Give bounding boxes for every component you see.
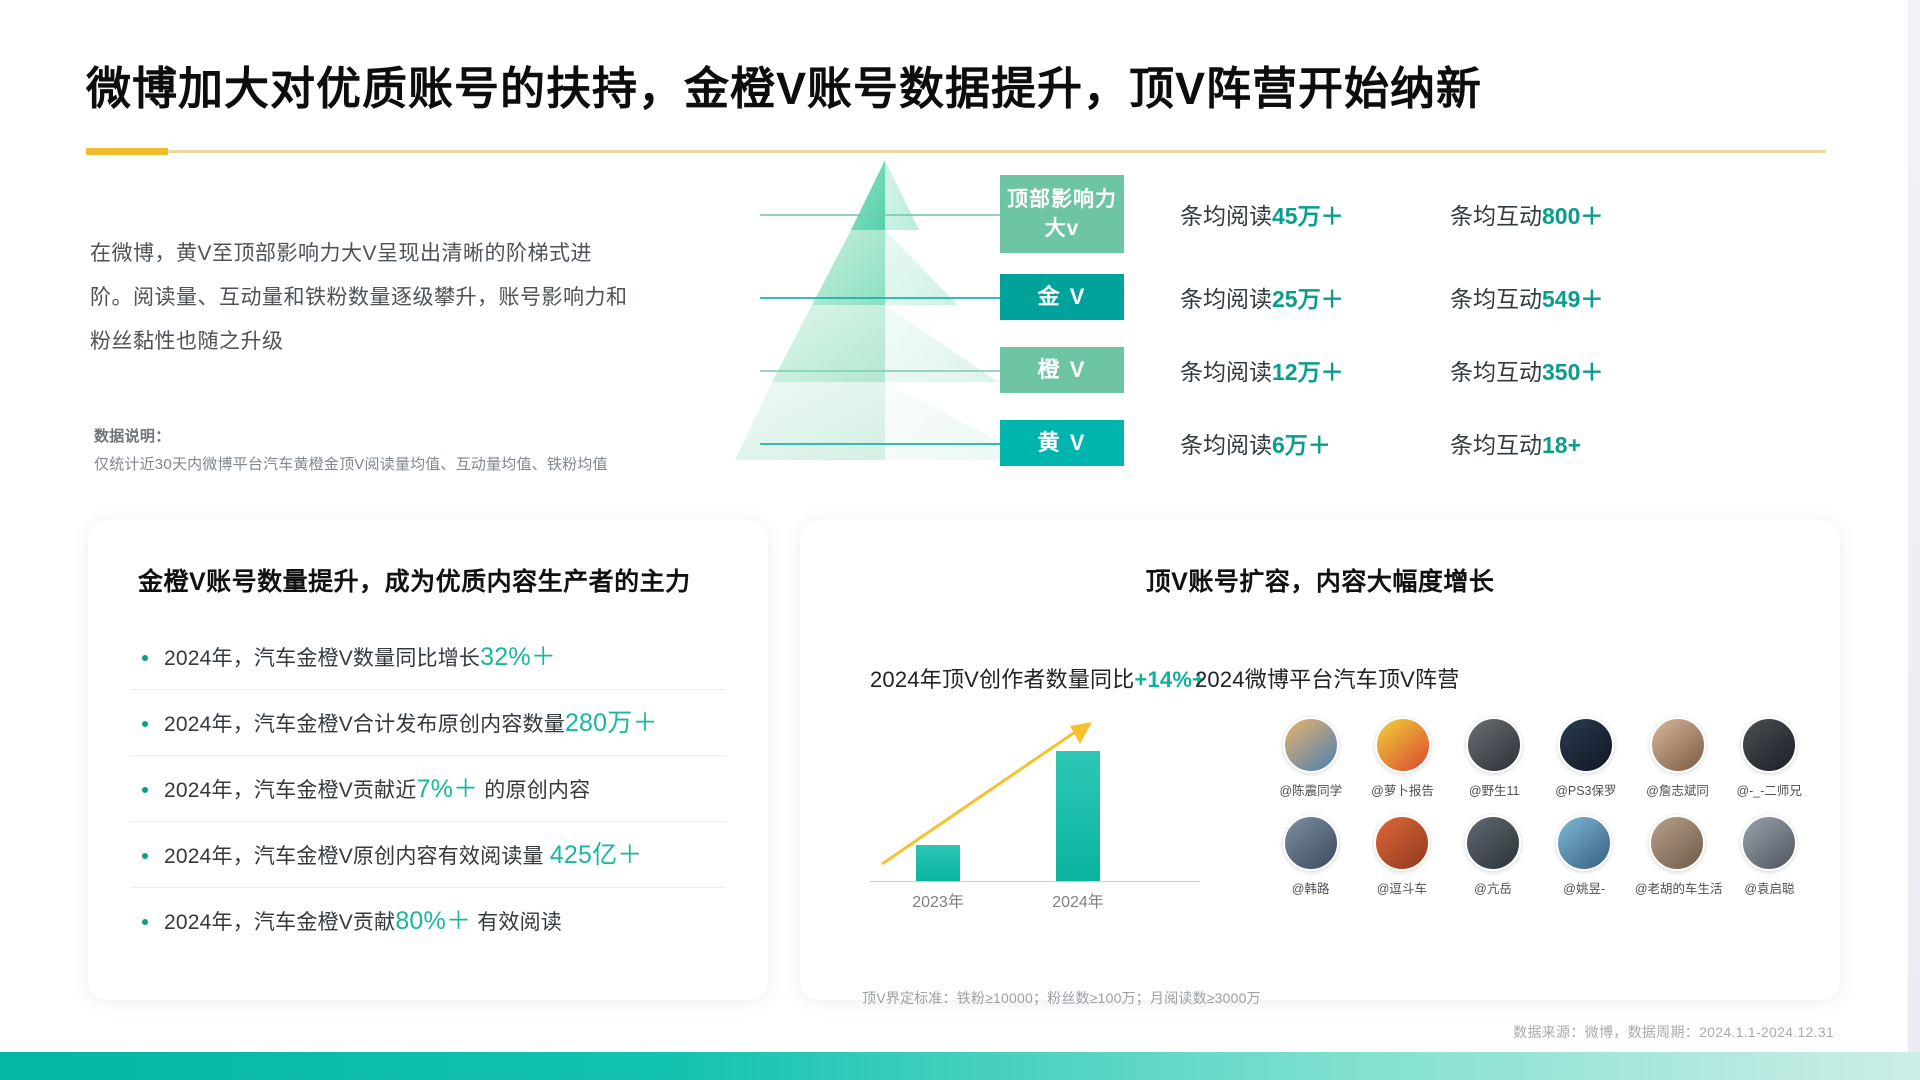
- tier-connector-line: [760, 443, 1015, 445]
- avatar-name: @PS3保罗: [1545, 780, 1627, 799]
- slide-root: 微博加大对优质账号的扶持，金橙V账号数据提升，顶V阵营开始纳新 在微博，黄V至顶…: [0, 0, 1920, 1080]
- tier-metric-read: 条均阅读6万＋: [1180, 426, 1331, 460]
- tier-connector-line: [760, 370, 1010, 372]
- avatar: [1741, 717, 1797, 773]
- avatar: [1374, 815, 1430, 871]
- avatar-cell[interactable]: @-_-二师兄: [1728, 717, 1810, 799]
- tier-badge: 橙 V: [1000, 347, 1124, 393]
- list-item: 2024年，汽车金橙V数量同比增长32%＋: [130, 624, 726, 690]
- data-note-body: 仅统计近30天内微博平台汽车黄橙金顶V阅读量均值、互动量均值、铁粉均值: [94, 453, 694, 474]
- list-item: 2024年，汽车金橙V原创内容有效阅读量 425亿＋: [130, 822, 726, 888]
- avatar-cell[interactable]: @PS3保罗: [1545, 717, 1627, 799]
- avatar-row: @陈震同学 @萝卜报告 @野生11 @PS3保罗 @詹志斌同 @-_-二师兄: [1270, 717, 1810, 799]
- bullet-list: 2024年，汽车金橙V数量同比增长32%＋ 2024年，汽车金橙V合计发布原创内…: [130, 624, 726, 954]
- avatar: [1558, 717, 1614, 773]
- metric-value: 45万＋: [1272, 203, 1344, 229]
- avatar-cell[interactable]: @韩路: [1270, 815, 1351, 897]
- tier-metric-interaction: 条均互动549＋: [1450, 280, 1603, 314]
- tier-row: 橙 V 条均阅读12万＋ 条均互动350＋: [1000, 333, 1880, 406]
- avatar: [1375, 717, 1431, 773]
- tier-row: 金 V 条均阅读25万＋ 条均互动549＋: [1000, 260, 1880, 333]
- avatar: [1466, 717, 1522, 773]
- tier-connector-line: [760, 214, 1000, 216]
- bullet-text: 2024年，汽车金橙V数量同比增长: [164, 647, 480, 670]
- avatar: [1465, 815, 1521, 871]
- data-note: 数据说明： 仅统计近30天内微博平台汽车黄橙金顶V阅读量均值、互动量均值、铁粉均…: [94, 425, 694, 474]
- avatar-cell[interactable]: @詹志斌同: [1637, 717, 1719, 799]
- avatars-title: 2024微博平台汽车顶V阵营: [1195, 662, 1459, 694]
- bottom-accent-bar: [0, 1052, 1920, 1080]
- metric-value: 12万＋: [1272, 359, 1344, 385]
- list-item: 2024年，汽车金橙V贡献80%＋ 有效阅读: [130, 888, 726, 954]
- bullet-text-post: 有效阅读: [471, 911, 562, 934]
- avatar-name: @韩路: [1270, 878, 1351, 897]
- card-top-v-expansion: 顶V账号扩容，内容大幅度增长 2024年顶V创作者数量同比+14%+ 2024微…: [800, 520, 1840, 1000]
- metric-label: 条均阅读: [1180, 359, 1272, 385]
- avatar-name: @逗斗车: [1361, 878, 1442, 897]
- tier-metric-interaction: 条均互动800＋: [1450, 197, 1603, 231]
- avatar-name: @陈震同学: [1270, 780, 1352, 799]
- tier-badge: 顶部影响力大v: [1000, 175, 1124, 253]
- tier-badge: 金 V: [1000, 274, 1124, 320]
- avatar-name: @亢岳: [1452, 878, 1533, 897]
- data-note-title: 数据说明：: [94, 425, 694, 446]
- metric-label: 条均互动: [1450, 432, 1542, 458]
- avatar: [1649, 815, 1705, 871]
- growth-arrow-icon: [860, 712, 1210, 912]
- avatar-cell[interactable]: @逗斗车: [1361, 815, 1442, 897]
- list-item: 2024年，汽车金橙V贡献近7%＋ 的原创内容: [130, 756, 726, 822]
- bullet-text: 2024年，汽车金橙V原创内容有效阅读量: [164, 845, 550, 868]
- avatar-name: @野生11: [1453, 780, 1535, 799]
- avatar-row: @韩路 @逗斗车 @亢岳 @姚昱- @老胡的车生活 @袁启聪: [1270, 815, 1810, 897]
- list-item: 2024年，汽车金橙V合计发布原创内容数量280万＋: [130, 690, 726, 756]
- chart-subtitle: 2024年顶V创作者数量同比+14%+: [870, 662, 1205, 694]
- title-divider: [86, 150, 1826, 153]
- tier-metric-read: 条均阅读12万＋: [1180, 353, 1344, 387]
- metric-label: 条均互动: [1450, 359, 1542, 385]
- metric-label: 条均互动: [1450, 203, 1542, 229]
- tier-metric-read: 条均阅读25万＋: [1180, 280, 1344, 314]
- avatar-cell[interactable]: @袁启聪: [1729, 815, 1810, 897]
- avatar-cell[interactable]: @姚昱-: [1544, 815, 1625, 897]
- bullet-text: 2024年，汽车金橙V贡献: [164, 911, 395, 934]
- avatar-cell[interactable]: @野生11: [1453, 717, 1535, 799]
- bullet-text-post: 的原创内容: [478, 779, 590, 802]
- tier-metric-read: 条均阅读45万＋: [1180, 197, 1344, 231]
- bar-chart: 2023年 2024年: [860, 712, 1210, 912]
- metric-value: 18+: [1542, 432, 1581, 458]
- avatar-cell[interactable]: @亢岳: [1452, 815, 1533, 897]
- metric-label: 条均互动: [1450, 286, 1542, 312]
- tier-row: 顶部影响力大v 条均阅读45万＋ 条均互动800＋: [1000, 168, 1880, 260]
- tier-metric-interaction: 条均互动350＋: [1450, 353, 1603, 387]
- metric-value: 800＋: [1542, 203, 1603, 229]
- avatar: [1283, 717, 1339, 773]
- bullet-highlight: 7%＋: [417, 775, 479, 803]
- intro-paragraph: 在微博，黄V至顶部影响力大V呈现出清晰的阶梯式进阶。阅读量、互动量和铁粉数量逐级…: [90, 232, 630, 364]
- tier-metric-interaction: 条均互动18+: [1450, 426, 1581, 460]
- page-title: 微博加大对优质账号的扶持，金橙V账号数据提升，顶V阵营开始纳新: [86, 52, 1482, 117]
- metric-label: 条均阅读: [1180, 203, 1272, 229]
- card-golden-v-growth: 金橙V账号数量提升，成为优质内容生产者的主力 2024年，汽车金橙V数量同比增长…: [88, 520, 768, 1000]
- pyramid-graphic: [735, 160, 1005, 510]
- avatar: [1650, 717, 1706, 773]
- card-left-title: 金橙V账号数量提升，成为优质内容生产者的主力: [138, 562, 768, 598]
- tier-row: 黄 V 条均阅读6万＋ 条均互动18+: [1000, 406, 1880, 479]
- card-right-title: 顶V账号扩容，内容大幅度增长: [800, 562, 1840, 598]
- avatar-name: @袁启聪: [1729, 878, 1810, 897]
- metric-value: 25万＋: [1272, 286, 1344, 312]
- metric-value: 350＋: [1542, 359, 1603, 385]
- metric-label: 条均阅读: [1180, 286, 1272, 312]
- avatar: [1556, 815, 1612, 871]
- avatar-name: @萝卜报告: [1362, 780, 1444, 799]
- avatar-cell[interactable]: @陈震同学: [1270, 717, 1352, 799]
- bullet-highlight: 80%＋: [395, 907, 471, 935]
- source-note: 数据来源：微博，数据周期：2024.1.1-2024.12.31: [1513, 1022, 1834, 1042]
- avatar-cell[interactable]: @萝卜报告: [1362, 717, 1444, 799]
- tier-list: 顶部影响力大v 条均阅读45万＋ 条均互动800＋ 金 V 条均阅读25万＋ 条…: [1000, 168, 1880, 479]
- avatar-name: @詹志斌同: [1637, 780, 1719, 799]
- avatar-name: @姚昱-: [1544, 878, 1625, 897]
- avatar-name: @老胡的车生活: [1635, 878, 1719, 897]
- metric-value: 549＋: [1542, 286, 1603, 312]
- metric-value: 6万＋: [1272, 432, 1331, 458]
- bullet-text: 2024年，汽车金橙V贡献近: [164, 779, 417, 802]
- bullet-text: 2024年，汽车金橙V合计发布原创内容数量: [164, 713, 565, 736]
- title-divider-accent: [86, 148, 168, 155]
- metric-label: 条均阅读: [1180, 432, 1272, 458]
- avatar: [1283, 815, 1339, 871]
- bullet-highlight: 425亿＋: [550, 841, 643, 869]
- avatar-grid: @陈震同学 @萝卜报告 @野生11 @PS3保罗 @詹志斌同 @-_-二师兄 @…: [1270, 717, 1810, 913]
- avatar-cell[interactable]: @老胡的车生活: [1635, 815, 1719, 897]
- chart-footnote: 顶V界定标准：铁粉≥10000；粉丝数≥100万；月阅读数≥3000万: [862, 988, 1261, 1008]
- avatar: [1741, 815, 1797, 871]
- chart-subtitle-text: 2024年顶V创作者数量同比: [870, 667, 1134, 692]
- right-edge-tint: [1908, 0, 1920, 1052]
- tier-connector-line: [760, 297, 1005, 299]
- tier-badge: 黄 V: [1000, 420, 1124, 466]
- bullet-highlight: 280万＋: [565, 709, 658, 737]
- avatar-name: @-_-二师兄: [1728, 780, 1810, 799]
- bullet-highlight: 32%＋: [480, 643, 556, 671]
